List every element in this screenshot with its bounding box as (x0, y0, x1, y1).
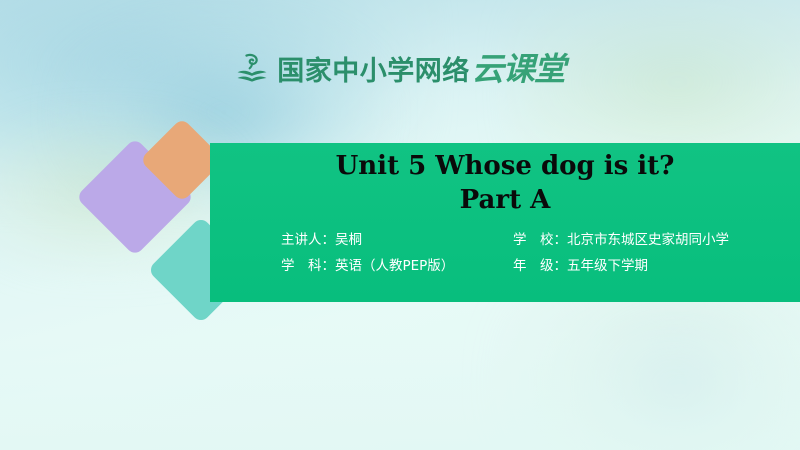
platform-name: 国家中小学网络云课堂 (277, 53, 565, 85)
presenter-value: 吴桐 (335, 232, 362, 248)
slide-root: 国家中小学网络云课堂 Unit 5 Whose dog is it? Part … (0, 0, 800, 450)
title-banner-content: Unit 5 Whose dog is it? Part A 主讲人：吴桐 学 … (210, 143, 800, 302)
lesson-metadata: 主讲人：吴桐 学 校：北京市东城区史家胡同小学 学 科：英语（人教PEP版） 年… (281, 227, 729, 280)
subject-label: 学 科： (281, 258, 335, 274)
metadata-subject: 学 科：英语（人教PEP版） (281, 253, 513, 279)
book-wave-icon (235, 52, 269, 86)
metadata-row-presenter-school: 主讲人：吴桐 学 校：北京市东城区史家胡同小学 (281, 227, 729, 253)
presenter-label: 主讲人： (281, 232, 335, 248)
metadata-presenter: 主讲人：吴桐 (281, 227, 513, 253)
lesson-title-line2: Part A (336, 183, 675, 217)
title-banner: Unit 5 Whose dog is it? Part A 主讲人：吴桐 学 … (210, 143, 800, 302)
metadata-row-subject-grade: 学 科：英语（人教PEP版） 年 级：五年级下学期 (281, 253, 729, 279)
grade-label: 年 级： (513, 258, 567, 274)
platform-name-brush: 云课堂 (472, 50, 565, 88)
platform-logo: 国家中小学网络云课堂 (0, 52, 800, 86)
platform-name-prefix: 国家中小学网络 (277, 56, 470, 87)
school-label: 学 校： (513, 232, 567, 248)
school-value: 北京市东城区史家胡同小学 (567, 232, 729, 248)
subject-value: 英语（人教PEP版） (335, 258, 454, 274)
lesson-title-line1: Unit 5 Whose dog is it? (336, 151, 675, 181)
grade-value: 五年级下学期 (567, 258, 648, 274)
metadata-school: 学 校：北京市东城区史家胡同小学 (513, 227, 729, 253)
metadata-grade: 年 级：五年级下学期 (513, 253, 648, 279)
lesson-title: Unit 5 Whose dog is it? Part A (336, 149, 675, 218)
